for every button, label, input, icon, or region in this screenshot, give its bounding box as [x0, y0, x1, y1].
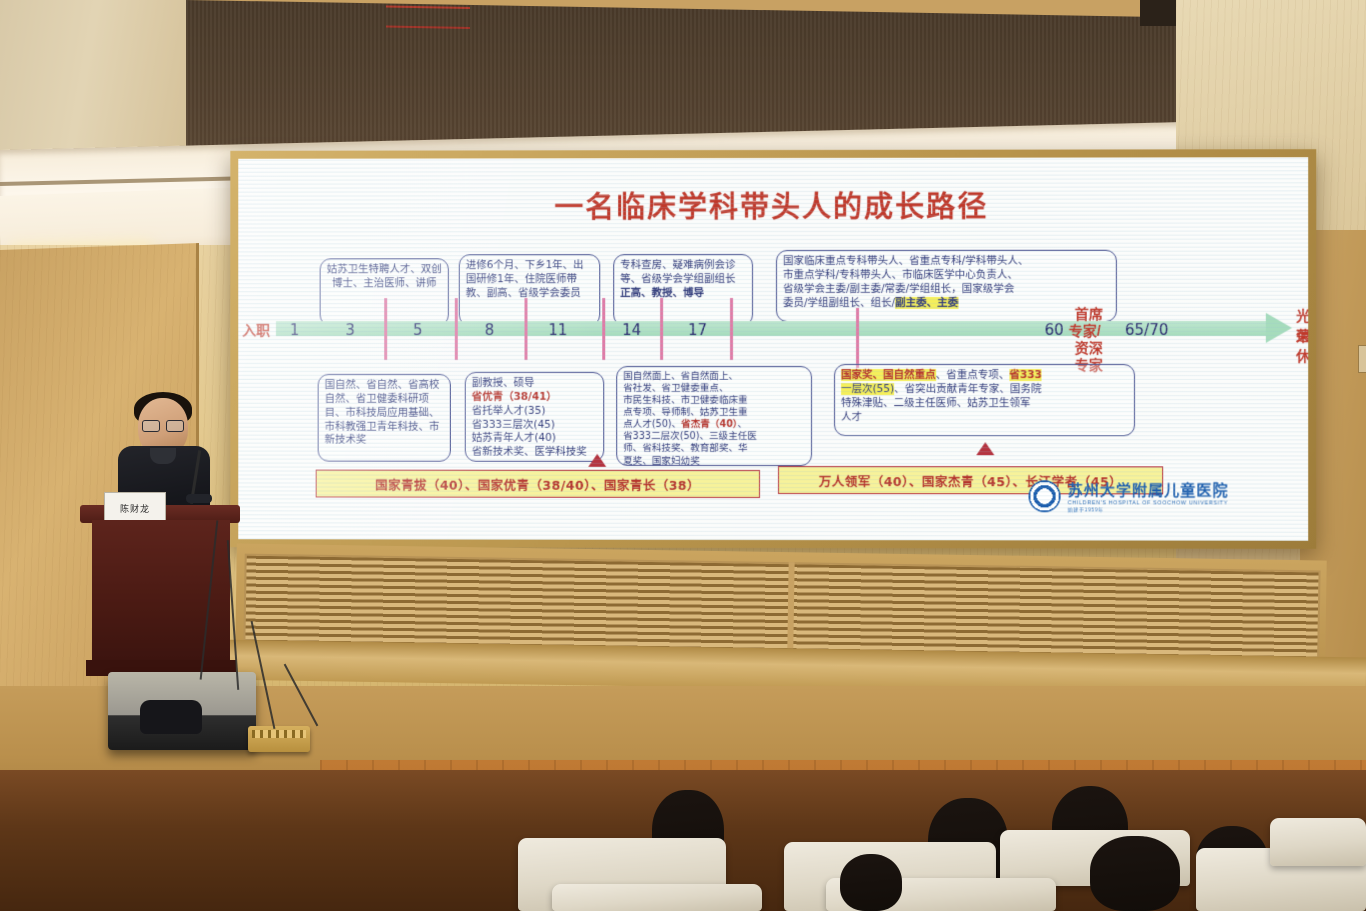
hospital-name-cn: 苏州大学附属儿童医院: [1068, 479, 1229, 500]
box-top-4-line4: 委员/学组副组长、组长/副主委、主委: [783, 296, 1110, 310]
bb4-l1-highlight: 国家奖、国自然重点: [841, 369, 936, 381]
bb4-l1: 国家奖、国自然重点、省重点专项、省333: [841, 369, 1128, 383]
timeline-age-60: 60: [1045, 321, 1064, 339]
arrow-up-right: [976, 442, 994, 455]
timeline-arrow-head: [1266, 313, 1292, 343]
bb4-l4: 人才: [841, 411, 1128, 425]
bb3-l5-red: 省杰青（40）: [681, 419, 737, 430]
hospital-logo-icon: [1028, 480, 1060, 512]
box-top-4-line3: 省级学会主委/副主委/常委/学组组长，国家级学会: [783, 283, 1110, 297]
timeline-divider: [730, 298, 733, 360]
speaker-name: 陈财龙: [120, 502, 150, 515]
box-top-4-line4-highlight: 副主委、主委: [895, 297, 958, 309]
bb2-l3: 省托举人才(35): [472, 405, 598, 419]
bb4-l3: 特殊津贴、二级主任医师、姑苏卫生领军: [841, 397, 1128, 411]
box-top-2: 进修6个月、下乡1年、出国研修1年、住院医师带教、副高、省级学会委员: [459, 254, 600, 326]
bb3-l2: 省社发、省卫健委重点、: [623, 383, 805, 395]
box-top-4-line2: 市重点学科/专科带头人、市临床医学中心负责人、: [783, 269, 1110, 283]
bb4-l1-plain: 、省重点专项、: [936, 369, 1010, 381]
bb3-l5: 点人才(50)、省杰青（40）、: [623, 419, 805, 431]
bb2-l6: 省新技术奖、医学科技奖: [472, 446, 598, 460]
hospital-logo-text: 苏州大学附属儿童医院 CHILDREN'S HOSPITAL OF SOOCHO…: [1068, 479, 1229, 513]
timeline-divider: [455, 298, 458, 360]
audience-seat: [552, 884, 762, 911]
bb3-l5-tail: 、: [738, 419, 748, 430]
timeline-divider: [856, 308, 859, 368]
timeline-start-label: 入职: [242, 320, 270, 340]
lecture-hall-photo: 一名临床学科带头人的成长路径 姑苏卫生特聘人才、双创博士、主治医师、讲师 进修6…: [0, 0, 1366, 911]
box-top-3-line1: 专科查房、疑难病例会诊等、省级学会学组副组长: [620, 259, 746, 287]
box-bottom-4: 国家奖、国自然重点、省重点专项、省333 一层次(55)、省突出贡献青年专家、国…: [834, 364, 1135, 436]
bb2-l4: 省333三层次(45): [472, 418, 598, 432]
timeline-tick-1: 1: [290, 321, 299, 339]
timeline-retire-age: 65/70: [1125, 321, 1168, 339]
hospital-founded: 始建于1959年: [1068, 506, 1229, 513]
red-light-streak: [386, 5, 470, 8]
bb2-l1: 副教授、硕导: [472, 377, 598, 391]
bb2-l2: 省优青（38/41）: [472, 391, 598, 405]
presentation-slide: 一名临床学科带头人的成长路径 姑苏卫生特聘人才、双创博士、主治医师、讲师 进修6…: [238, 157, 1308, 541]
projection-screen-frame: 一名临床学科带头人的成长路径 姑苏卫生特聘人才、双创博士、主治医师、讲师 进修6…: [230, 149, 1316, 549]
arrow-up-left: [588, 454, 606, 467]
slide-title: 一名临床学科带头人的成长路径: [238, 183, 1308, 226]
glasses-icon: [142, 420, 184, 430]
timeline-end-line2: 退休: [1296, 326, 1308, 366]
bb3-l3: 市民生科技、市卫健委临床重: [623, 395, 805, 407]
laptop-stand: [140, 700, 202, 734]
bb3-l7: 师、省科技奖、教育部奖、华: [623, 443, 805, 455]
timeline-tick-8: 8: [485, 321, 495, 339]
bb3-l4: 点专项、导师制、姑苏卫生重: [623, 407, 805, 419]
timeline-rail: [276, 321, 1266, 336]
bb4-l2: 一层次(55)、省突出贡献青年专家、国务院: [841, 383, 1128, 397]
speaker-collar: [150, 448, 176, 464]
timeline-tick-5: 5: [413, 321, 422, 339]
projection-screen: 一名临床学科带头人的成长路径 姑苏卫生特聘人才、双创博士、主治医师、讲师 进修6…: [238, 157, 1308, 541]
bb3-l6: 省333二层次(50)、三级主任医: [623, 431, 805, 443]
timeline-tick-11: 11: [548, 321, 567, 339]
red-light-streak-2: [386, 25, 470, 28]
box-top-4: 国家临床重点专科带头人、省重点专科/学科带头人、 市重点学科/专科带头人、市临床…: [776, 250, 1117, 322]
bb3-l5-plain: 点人才(50)、: [623, 419, 681, 430]
box-bottom-1: 国自然、省自然、省高校自然、省卫健委科研项目、市科技局应用基础、市科教强卫青年科…: [318, 374, 451, 462]
banner-national-young-talents: 国家青拔（40）、国家优青（38/40）、国家青长（38）: [316, 470, 760, 498]
timeline-divider: [384, 298, 387, 360]
box-bottom-2: 副教授、硕导 省优青（38/41） 省托举人才(35) 省333三层次(45) …: [465, 372, 604, 462]
timeline-divider: [660, 298, 663, 360]
bb4-l1-highlight-2: 省333: [1009, 369, 1042, 381]
wall-switch[interactable]: [1358, 345, 1366, 373]
box-top-4-line4-plain: 委员/学组副组长、组长/: [783, 297, 895, 309]
audience-seat: [1270, 818, 1366, 866]
timeline-divider: [524, 298, 527, 360]
bb3-l1: 国自然面上、省自然面上、: [623, 371, 805, 383]
box-bottom-3: 国自然面上、省自然面上、 省社发、省卫健委重点、 市民生科技、市卫健委临床重 点…: [616, 366, 812, 466]
timeline-divider: [602, 298, 605, 360]
timeline-tick-14: 14: [622, 321, 641, 339]
audience-head: [840, 854, 902, 911]
microphone-head: [186, 494, 212, 503]
bb4-l2-highlight: 一层次(55): [841, 383, 894, 395]
bb4-l2-plain: 、省突出贡献青年专家、国务院: [894, 383, 1041, 395]
timeline-tick-17: 17: [688, 321, 707, 339]
audience-head: [1090, 836, 1180, 911]
box-top-4-line1: 国家临床重点专科带头人、省重点专科/学科带头人、: [783, 255, 1110, 269]
power-strip[interactable]: [248, 726, 310, 752]
box-top-3-line2: 正高、教授、博导: [620, 287, 746, 301]
hospital-logo: 苏州大学附属儿童医院 CHILDREN'S HOSPITAL OF SOOCHO…: [1028, 476, 1267, 516]
bb2-l5: 姑苏青年人才(40): [472, 432, 598, 446]
timeline-tick-3: 3: [345, 321, 354, 339]
